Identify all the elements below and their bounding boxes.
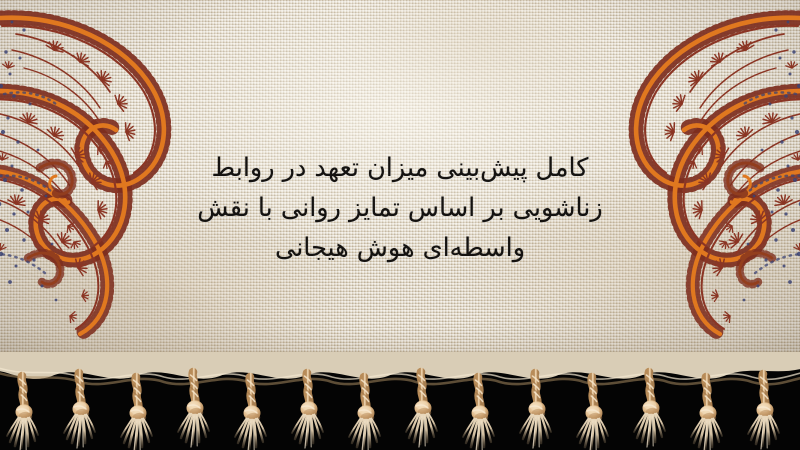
- cloth-canvas: [0, 0, 800, 380]
- title-card: کامل پیش‌بینی میزان تعهد در روابط زناشوی…: [0, 0, 800, 450]
- black-backdrop: [0, 368, 800, 450]
